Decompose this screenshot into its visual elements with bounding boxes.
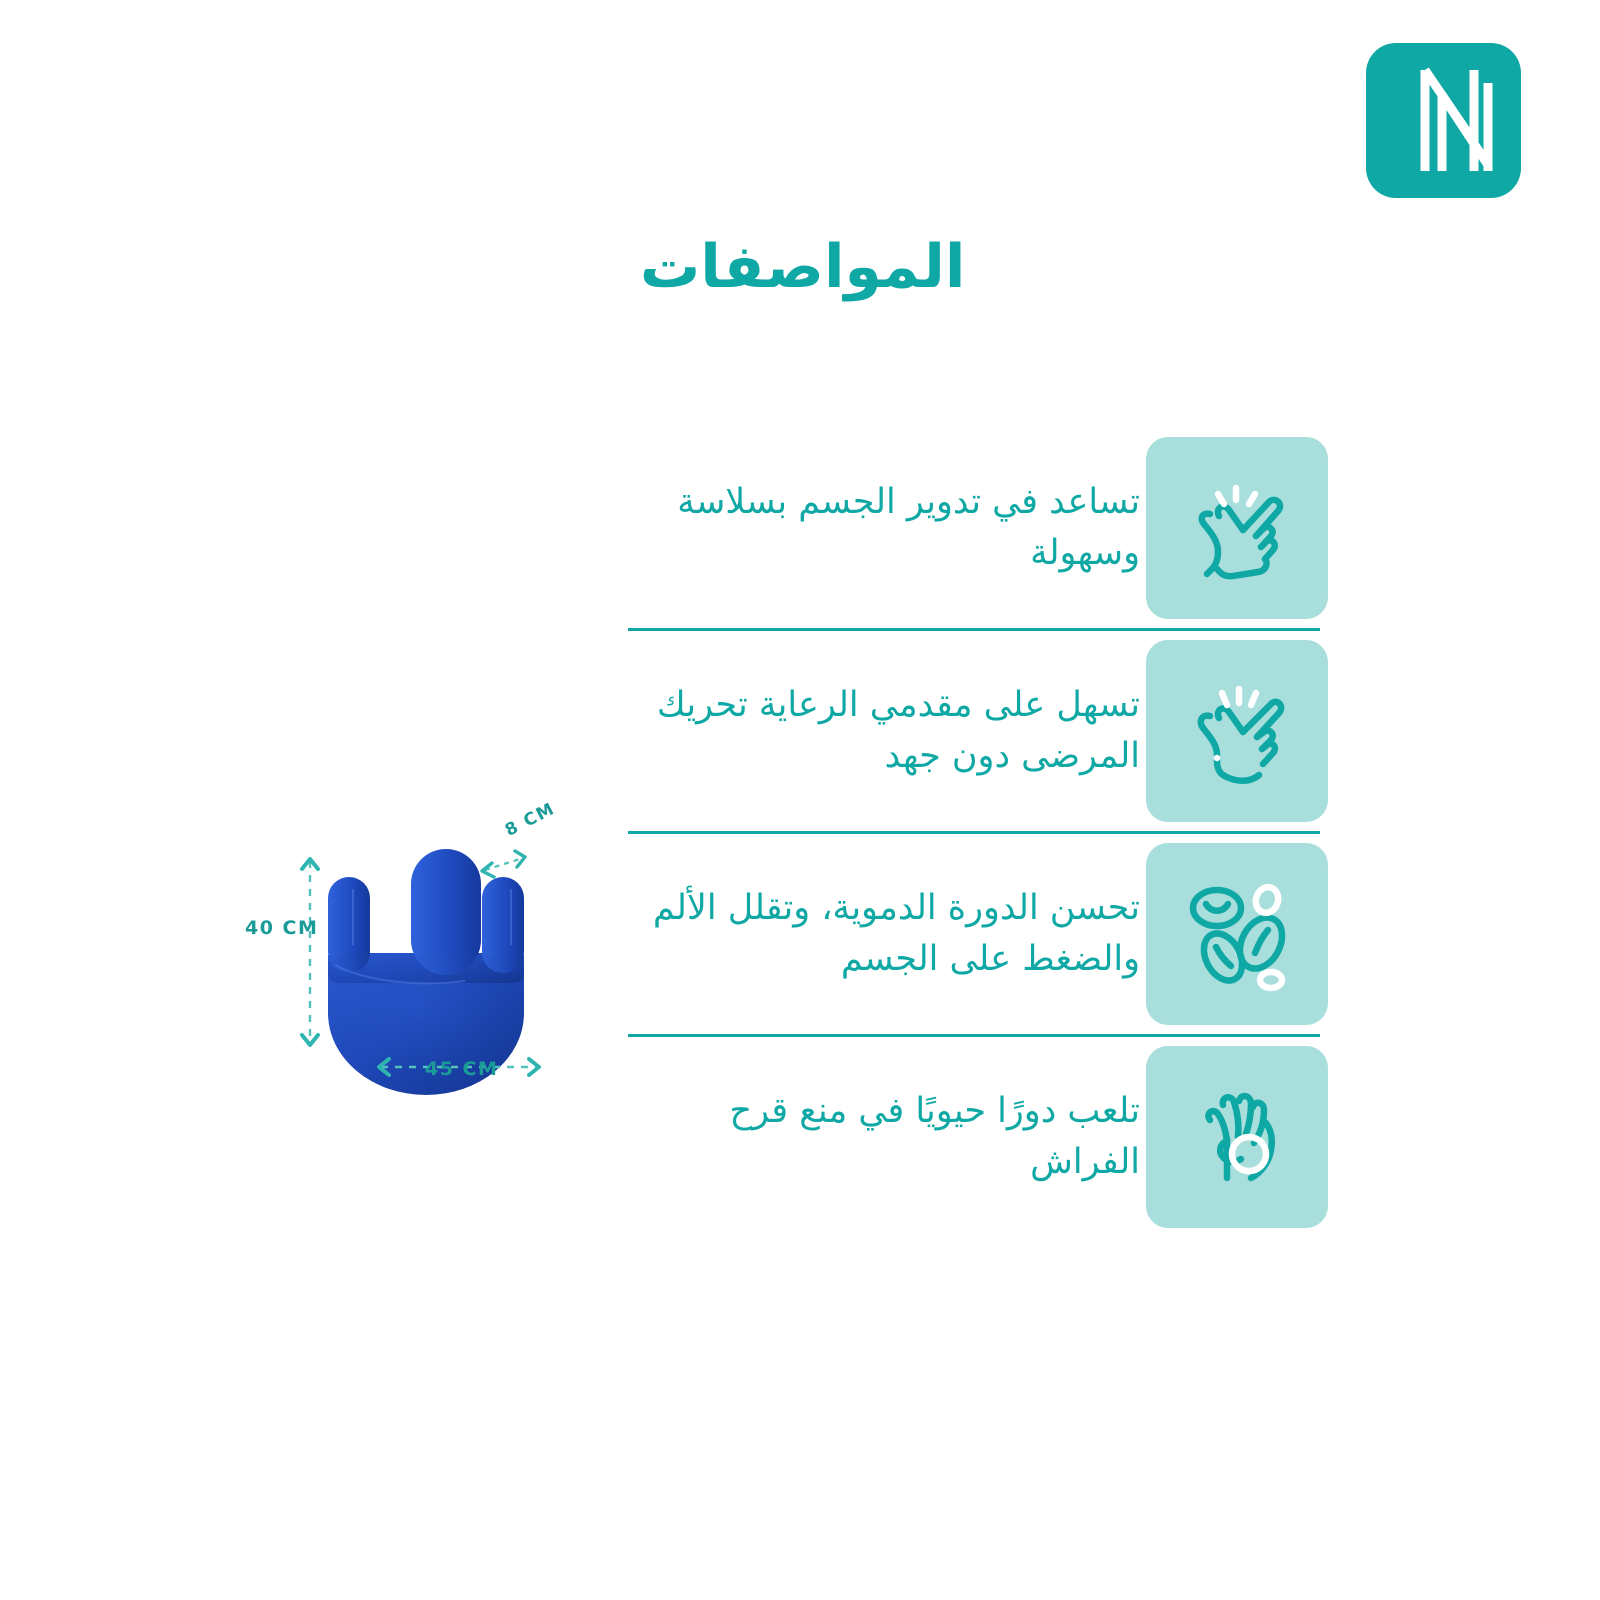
pointing-hand-gesture-icon xyxy=(1146,640,1328,822)
snapping-fingers-hand-icon xyxy=(1146,437,1328,619)
product-illustration: 40 CM 45 CM 8 CM xyxy=(215,805,645,1135)
feature-item: تلعب دورًا حيويًا في منع قرح الفراش xyxy=(628,1037,1328,1237)
feature-item: تحسن الدورة الدموية، وتقلل الألم والضغط … xyxy=(628,834,1328,1034)
dimension-height-label: 40 CM xyxy=(245,917,318,939)
ok-hand-gesture-icon xyxy=(1146,1046,1328,1228)
features-list: تساعد في تدوير الجسم بسلاسة وسهولة xyxy=(628,428,1328,1237)
feature-item: تساعد في تدوير الجسم بسلاسة وسهولة xyxy=(628,428,1328,628)
feature-text: تلعب دورًا حيويًا في منع قرح الفراش xyxy=(628,1086,1146,1188)
page-title: المواصفات xyxy=(0,232,1600,302)
feature-item: تسهل على مقدمي الرعاية تحريك المرضى دون … xyxy=(628,631,1328,831)
feature-text: تحسن الدورة الدموية، وتقلل الألم والضغط … xyxy=(628,883,1146,985)
brand-logo xyxy=(1366,43,1521,198)
feature-text: تسهل على مقدمي الرعاية تحريك المرضى دون … xyxy=(628,680,1146,782)
feature-text: تساعد في تدوير الجسم بسلاسة وسهولة xyxy=(628,477,1146,579)
blood-cells-icon xyxy=(1146,843,1328,1025)
dimension-width-label: 45 CM xyxy=(425,1058,498,1080)
